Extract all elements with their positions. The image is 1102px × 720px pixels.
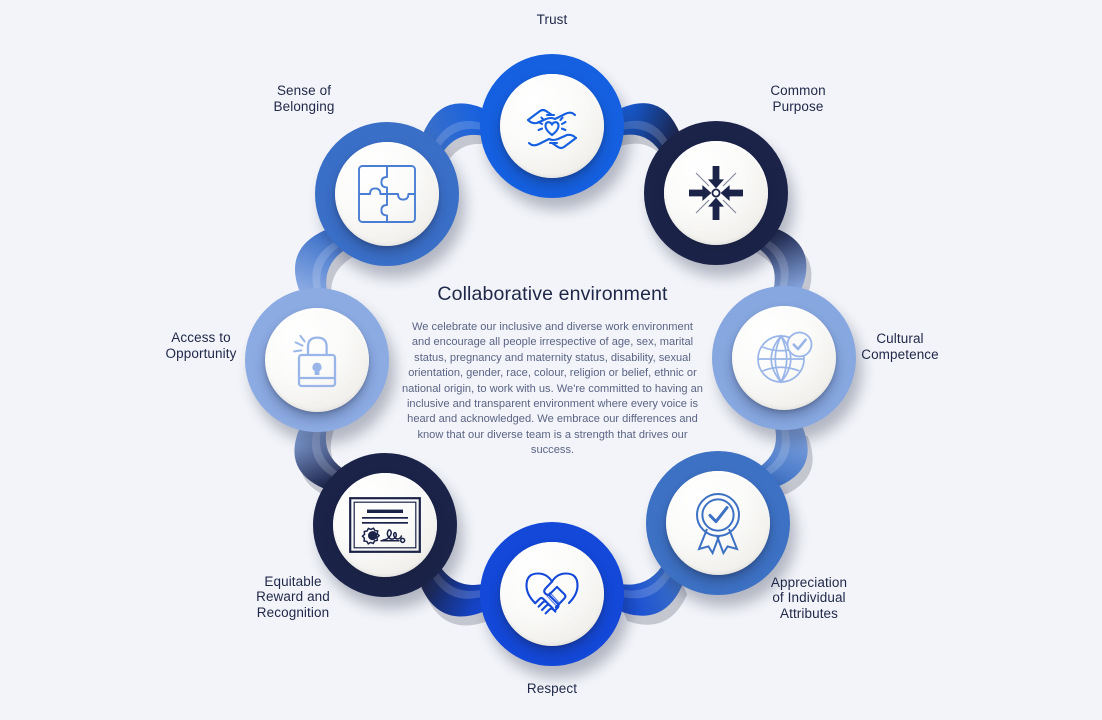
handshake-heart-icon <box>500 542 604 646</box>
infographic-canvas: Collaborative environment We celebrate o… <box>0 0 1102 720</box>
center-text-block: Collaborative environment We celebrate o… <box>386 283 719 459</box>
award-rosette-icon <box>666 471 770 575</box>
certificate-icon <box>333 473 437 577</box>
converging-arrows-icon <box>664 141 768 245</box>
open-padlock-icon <box>265 308 369 412</box>
puzzle-pieces-icon <box>335 142 439 246</box>
center-description: We celebrate our inclusive and diverse w… <box>386 320 719 459</box>
globe-check-icon <box>732 306 836 410</box>
center-title: Collaborative environment <box>386 283 719 306</box>
hands-holding-heart-icon <box>500 74 604 178</box>
